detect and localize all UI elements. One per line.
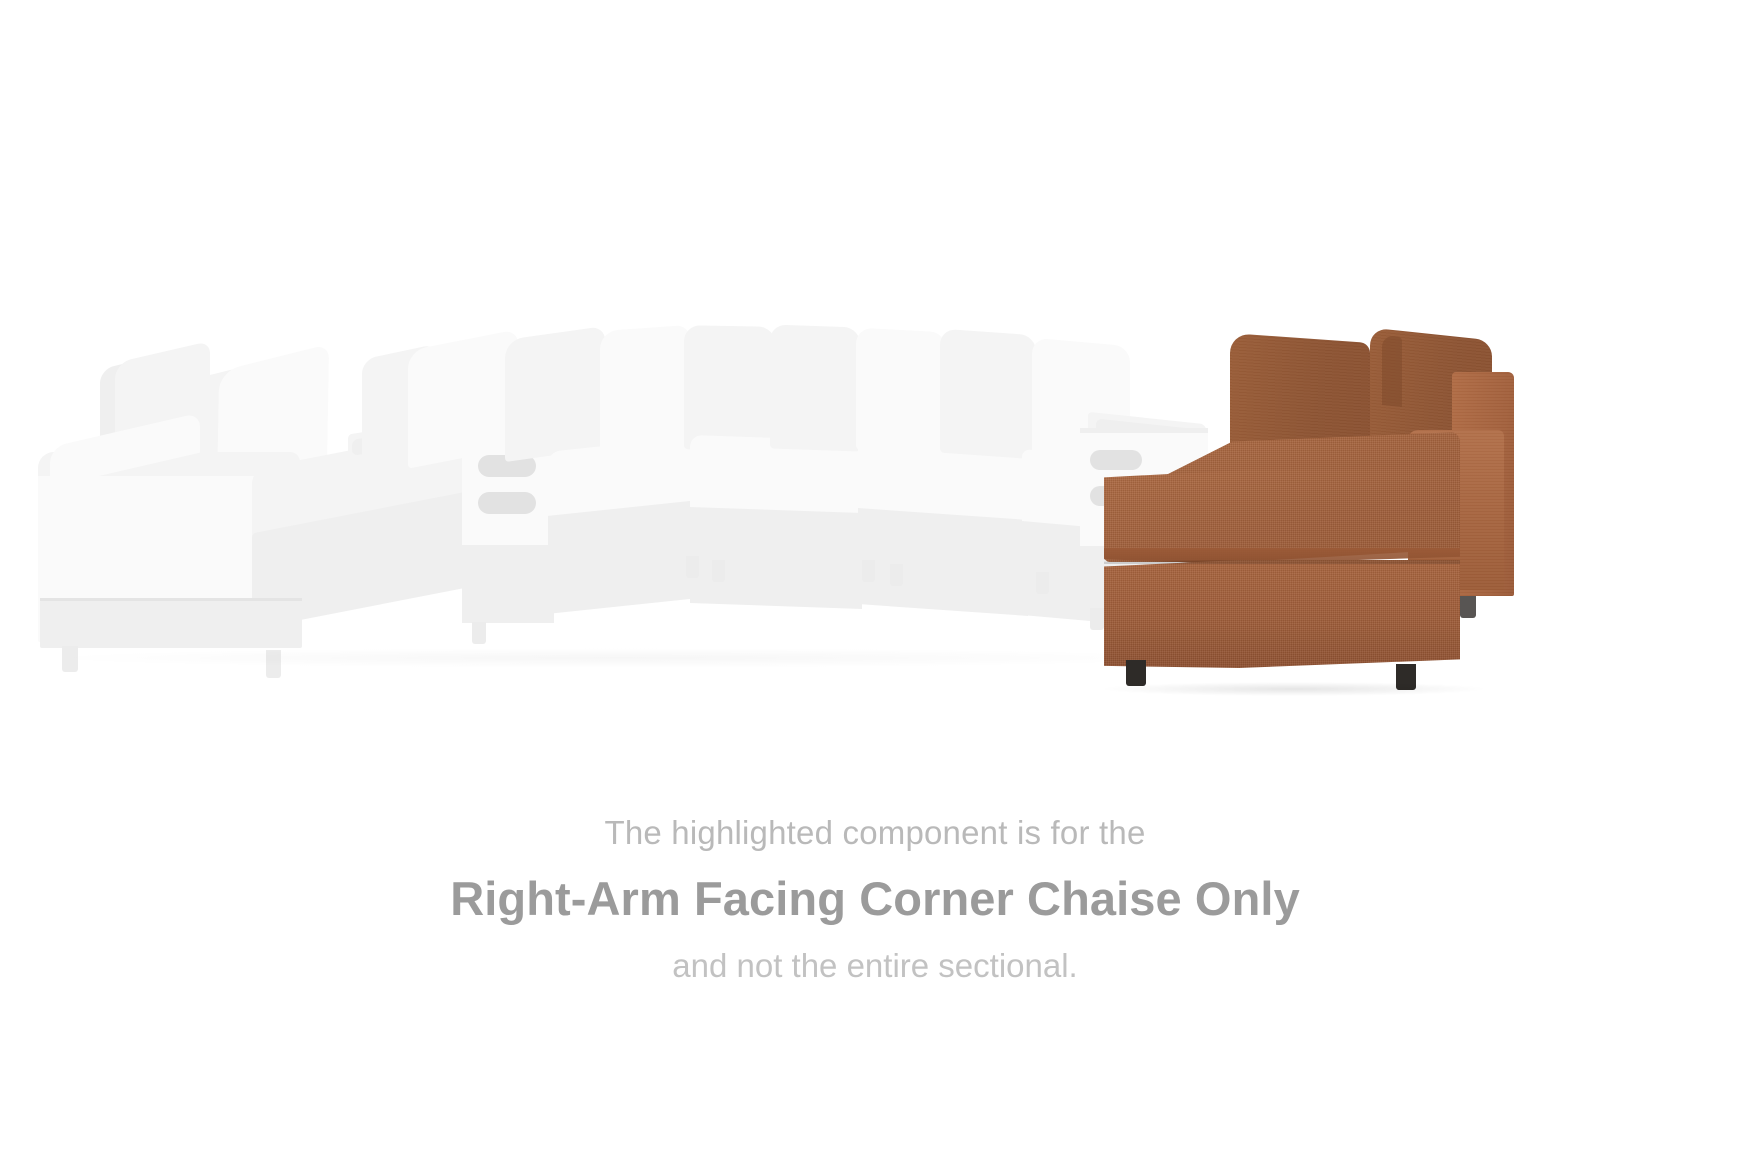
caption-block: The highlighted component is for the Rig… bbox=[0, 812, 1750, 988]
caption-component-name: Right-Arm Facing Corner Chaise Only bbox=[0, 867, 1750, 930]
caption-line-1: The highlighted component is for the bbox=[0, 812, 1750, 853]
caption-line-3: and not the entire sectional. bbox=[0, 945, 1750, 988]
sofa-leg bbox=[1460, 596, 1476, 618]
cupholder-icon bbox=[478, 492, 536, 514]
product-image bbox=[0, 0, 1750, 800]
cupholder-icon bbox=[1090, 450, 1142, 470]
screenshot-root: The highlighted component is for the Rig… bbox=[0, 0, 1750, 1167]
